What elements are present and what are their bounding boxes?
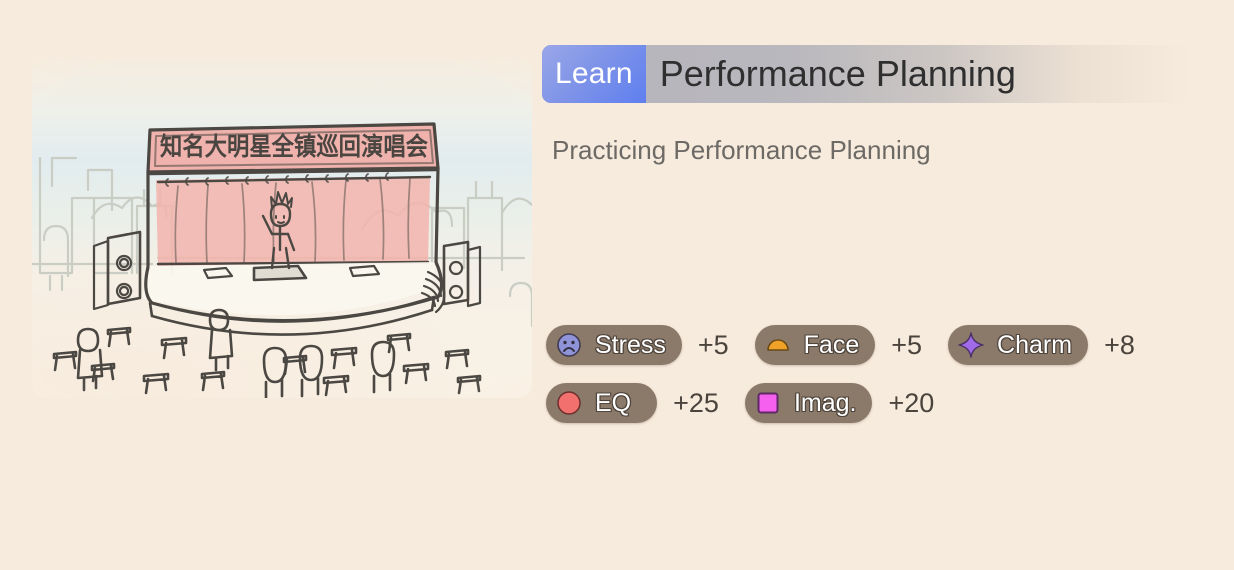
dome-icon xyxy=(765,332,791,358)
stat-label: Imag. xyxy=(794,391,857,416)
stat-pill-stress: Stress xyxy=(546,325,682,365)
stat-value: +5 xyxy=(698,332,729,359)
stat-value: +25 xyxy=(673,390,719,417)
activity-subtitle: Practicing Performance Planning xyxy=(552,135,931,166)
stage-concert-sketch: 知名大明星全镇巡回演唱会 xyxy=(32,58,532,398)
stat-pill-charm: Charm xyxy=(948,325,1088,365)
info-pane: Learn Performance Planning Practicing Pe… xyxy=(530,0,1234,570)
stat-group-face: Face +5 xyxy=(755,325,922,365)
stat-label: Face xyxy=(804,333,860,358)
square-icon xyxy=(755,390,781,416)
circle-icon xyxy=(556,390,582,416)
sad-face-icon xyxy=(556,332,582,358)
activity-title-row: Learn Performance Planning xyxy=(542,45,1190,103)
banner-text: 知名大明星全镇巡回演唱会 xyxy=(160,132,428,161)
stat-row: EQ +25 Imag. +20 xyxy=(546,383,1234,423)
illustration-pane: 知名大明星全镇巡回演唱会 xyxy=(0,0,530,570)
stat-row: Stress +5 Face +5 xyxy=(546,325,1234,365)
stat-value: +5 xyxy=(891,332,922,359)
learn-category-badge: Learn xyxy=(542,45,646,103)
stage-curtain-fill xyxy=(156,176,430,266)
stat-label: Charm xyxy=(997,333,1072,358)
page-title: Performance Planning xyxy=(646,45,1030,103)
stat-value: +20 xyxy=(888,390,934,417)
stat-label: EQ xyxy=(595,391,631,416)
stat-pill-eq: EQ xyxy=(546,383,657,423)
sparkle-icon xyxy=(958,332,984,358)
stage-concert-illustration: 知名大明星全镇巡回演唱会 xyxy=(32,58,532,398)
stat-group-imagination: Imag. +20 xyxy=(745,383,934,423)
stat-group-charm: Charm +8 xyxy=(948,325,1135,365)
stat-group-stress: Stress +5 xyxy=(546,325,729,365)
stat-pill-face: Face xyxy=(755,325,876,365)
activity-detail-screen: 知名大明星全镇巡回演唱会 xyxy=(0,0,1234,570)
stat-rewards-list: Stress +5 Face +5 xyxy=(546,325,1234,423)
stat-group-eq: EQ +25 xyxy=(546,383,719,423)
stat-label: Stress xyxy=(595,333,666,358)
stat-value: +8 xyxy=(1104,332,1135,359)
stat-pill-imagination: Imag. xyxy=(745,383,873,423)
